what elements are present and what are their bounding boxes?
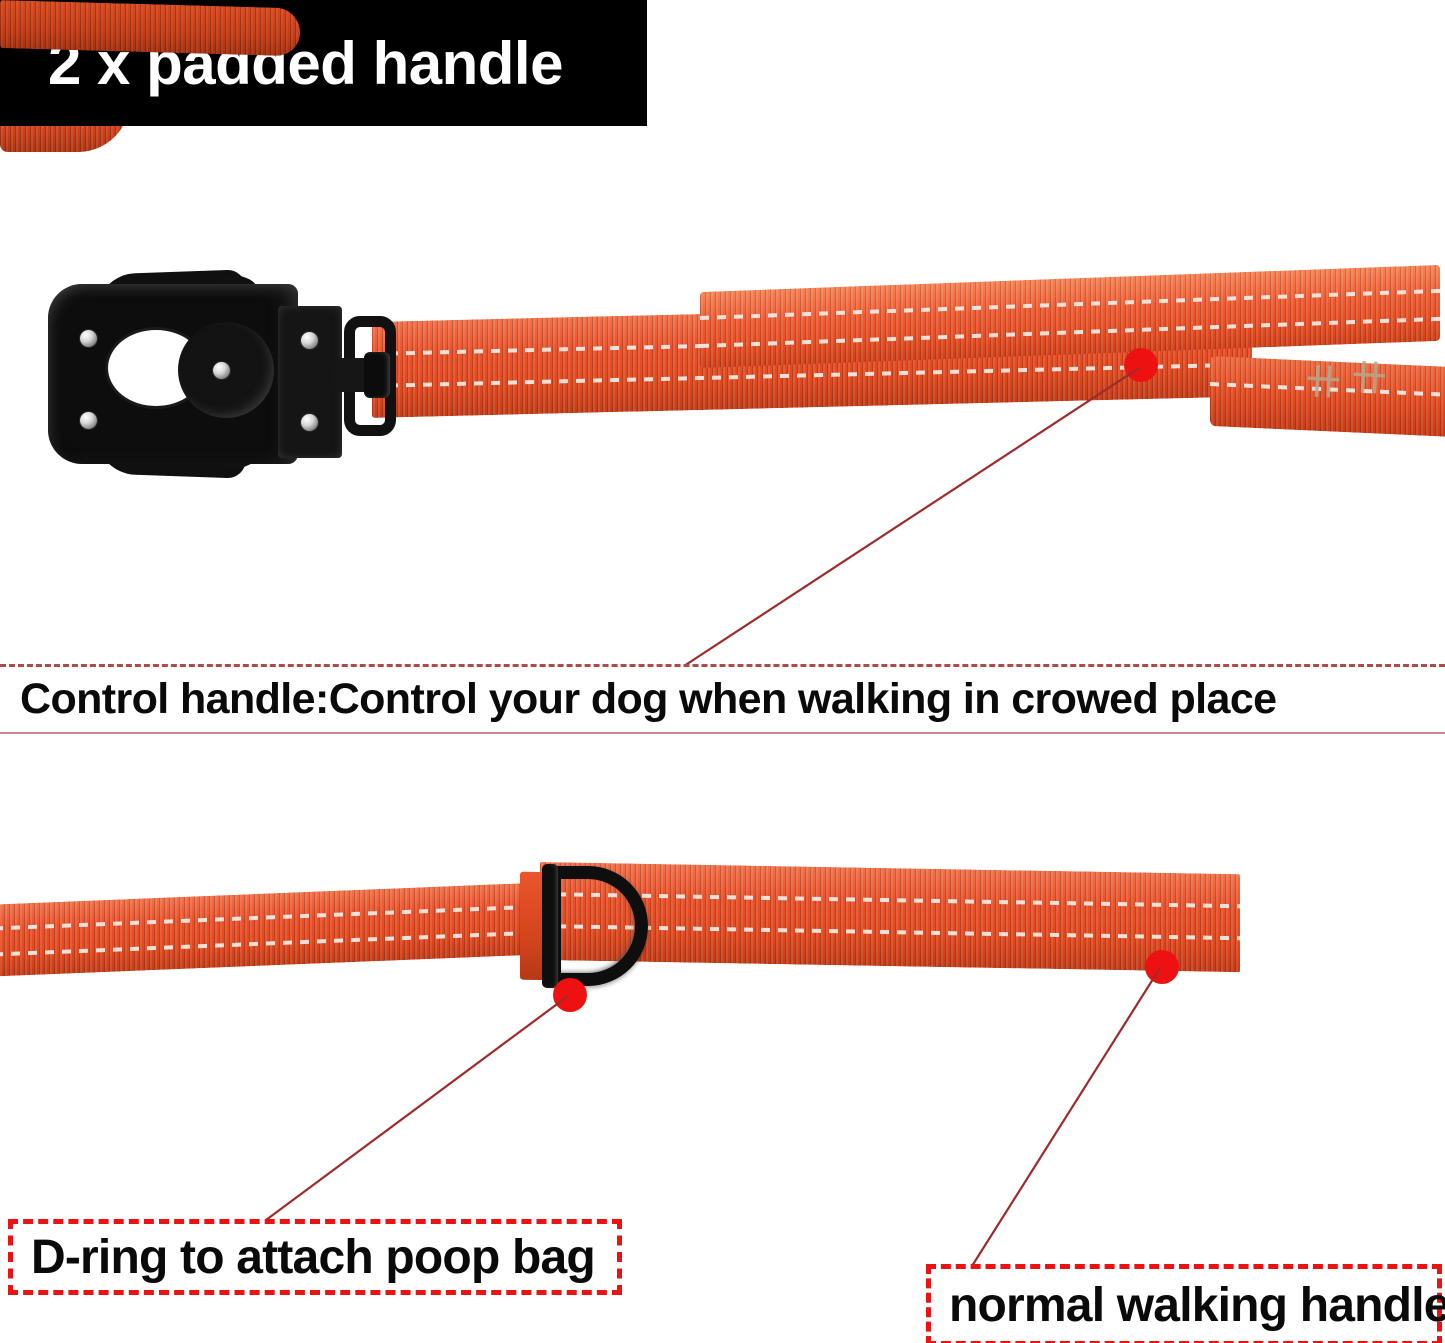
marker-dot-control-handle [1124,348,1158,382]
cross-stitch-mark: 卄 [1305,365,1343,401]
reflective-stitch-line [700,317,1440,348]
screw-icon [301,414,318,431]
reflective-stitch-line [0,904,554,930]
screw-icon [213,362,230,379]
swivel-nut [364,352,390,398]
reflective-stitch-line [540,892,1240,908]
screw-icon [80,412,97,429]
reflective-stitch-line [700,289,1440,320]
label-d-ring-text: D-ring to attach poop bag [13,1230,595,1285]
cross-stitch-mark: 卄 [1351,361,1389,397]
screw-icon [301,332,318,349]
padded-walking-handle-underside [0,0,300,56]
reflective-stitch-line [0,930,554,956]
marker-dot-d-ring [553,978,587,1012]
label-box-d-ring: D-ring to attach poop bag [8,1219,622,1295]
caption-control-handle: Control handle:Control your dog when wal… [0,664,1445,734]
leader-line-walking-handle [972,968,1160,1266]
webbing-strap-left [0,882,554,976]
label-walking-handle-text: normal walking handle [931,1278,1445,1333]
screw-icon [80,330,97,347]
infographic-page: 2 x padded handle 卄 卄 [0,0,1445,1343]
leader-line-d-ring [266,996,568,1220]
caption-control-handle-text: Control handle:Control your dog when wal… [0,675,1276,724]
d-ring-straight-bar [542,864,558,988]
label-box-walking-handle: normal walking handle [926,1264,1442,1343]
marker-dot-walking-handle [1145,950,1179,984]
reflective-stitch-line [372,362,1252,388]
